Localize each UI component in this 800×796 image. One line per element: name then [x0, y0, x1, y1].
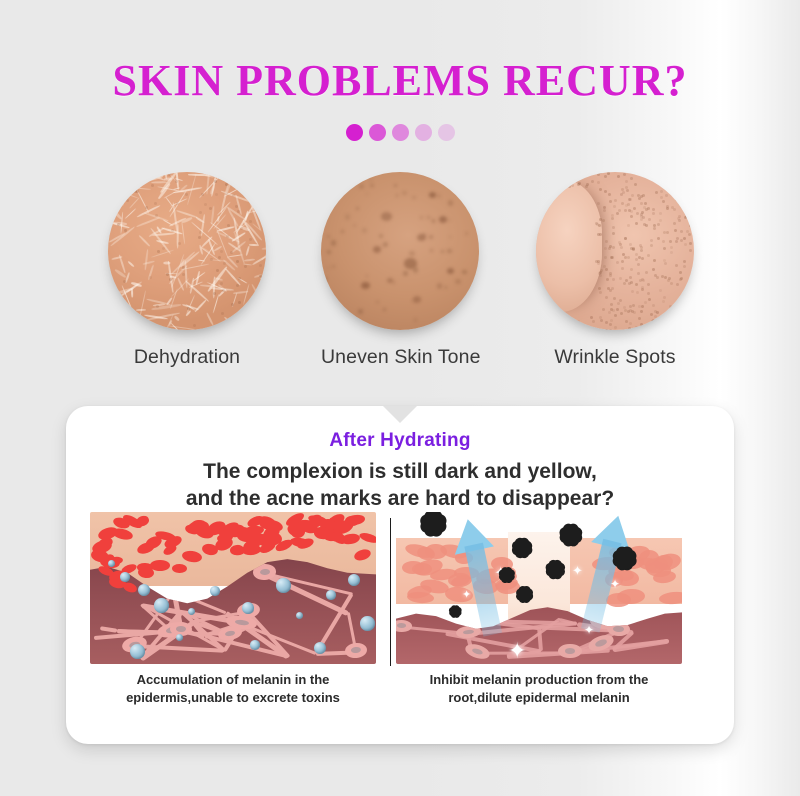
dot-1-icon [346, 124, 363, 141]
skin-pore [659, 289, 662, 292]
skin-pore [612, 246, 615, 249]
skin-pore [198, 236, 201, 239]
skin-pore [139, 320, 142, 323]
skin-pore [597, 260, 600, 263]
sparkle-icon: ✦ [572, 564, 583, 577]
pigment-freckle [403, 271, 408, 276]
skin-pore [232, 194, 235, 197]
problem-item-dehydration: Dehydration [108, 172, 266, 369]
skin-pore [669, 190, 672, 193]
melanin-particle [564, 528, 577, 541]
skin-pore [635, 326, 638, 329]
skin-pore [598, 287, 601, 290]
skin-pore [540, 174, 543, 177]
pigment-freckle [437, 194, 441, 198]
skin-pore [591, 180, 594, 183]
sparkle-icon: ✦ [462, 590, 471, 601]
melanin-particle [550, 564, 561, 575]
skin-pore [640, 218, 643, 221]
skin-pore [537, 317, 540, 320]
skin-pore [652, 212, 655, 215]
skin-pore [616, 212, 619, 215]
skin-flake [261, 246, 266, 250]
skin-pore [692, 295, 694, 298]
skin-flake [119, 254, 126, 273]
pigment-spot [429, 192, 436, 198]
pigment-freckle [393, 281, 395, 283]
hydration-droplet [108, 560, 115, 567]
skin-pore [627, 203, 630, 206]
skin-pore [657, 237, 660, 240]
pigment-freckle [331, 240, 337, 246]
skin-pore [682, 172, 685, 175]
skin-pore [599, 291, 602, 294]
pigment-freckle [456, 191, 458, 193]
pigment-freckle [370, 184, 374, 188]
skin-pore [618, 209, 621, 212]
panel-caption-right-line1: Inhibit melanin production from the [396, 671, 682, 689]
skin-pore [605, 329, 608, 330]
skin-pore [633, 172, 636, 174]
skin-pore [687, 214, 690, 217]
melanin-particle [502, 570, 511, 579]
enlarged-pores-nose-photo [536, 172, 694, 330]
skin-pore [604, 256, 607, 259]
card-headline-line1: The complexion is still dark and yellow, [66, 458, 734, 485]
skin-pore [221, 312, 224, 315]
skin-pore [547, 329, 550, 330]
skin-pore [648, 298, 651, 301]
skin-flake [238, 172, 240, 191]
pigment-freckle [420, 216, 423, 219]
skin-pore [597, 202, 600, 205]
skin-pore [214, 180, 217, 183]
skin-flake [194, 299, 206, 311]
skin-pore [551, 323, 554, 326]
skin-pore [259, 275, 262, 278]
skin-pore [652, 208, 655, 211]
skin-pore [681, 298, 684, 301]
skin-pore [624, 209, 627, 212]
skin-pore [229, 177, 232, 180]
card-notch-icon [383, 406, 417, 423]
skin-pore [650, 239, 653, 242]
skin-pore [685, 323, 688, 326]
skin-pore [628, 282, 631, 285]
skin-flake [124, 300, 126, 320]
skin-pore [245, 323, 248, 326]
pigment-freckle [327, 235, 330, 238]
hydration-droplet [188, 608, 195, 615]
pigment-spot [387, 278, 393, 283]
skin-pore [640, 323, 643, 326]
skin-pore [678, 219, 681, 222]
dot-5-icon [438, 124, 455, 141]
skin-pore [620, 246, 623, 249]
skin-pore [635, 283, 638, 286]
hydration-droplet [210, 586, 220, 596]
skin-pore [185, 193, 188, 196]
skin-pore [565, 320, 568, 323]
fibroblast-cell [558, 644, 582, 658]
skin-pore [600, 319, 603, 322]
skin-pore [640, 310, 643, 313]
skin-pore [145, 206, 148, 209]
skin-pore [650, 313, 653, 316]
pigment-spot [381, 212, 392, 221]
skin-pore [642, 194, 645, 197]
hydration-droplet [326, 590, 336, 600]
skin-pore [624, 256, 627, 259]
hydration-droplet [120, 572, 130, 582]
fibroblast-cell [463, 641, 491, 661]
skin-pore [109, 204, 112, 207]
pigment-freckle [412, 196, 416, 200]
skin-pore [644, 301, 647, 304]
skin-pore [557, 329, 560, 330]
skin-pore [682, 312, 685, 315]
skin-pore [669, 240, 672, 243]
skin-pore [662, 200, 665, 203]
skin-pore [675, 303, 678, 306]
skin-pore [636, 329, 639, 330]
skin-pore [600, 269, 603, 272]
skin-pore [641, 211, 644, 214]
epidermis-cell [150, 560, 170, 571]
skin-pore [569, 318, 572, 321]
skin-pore [629, 322, 632, 325]
skin-pore [650, 244, 653, 247]
skin-pore [655, 191, 658, 194]
skin-flake [125, 208, 137, 219]
panel-melanin-inhibition: ✦✦✦✦✦✦ Inhibit melanin production from t… [396, 512, 682, 706]
skin-flake [126, 273, 131, 284]
skin-pore [226, 235, 229, 238]
fibroblast-cell [344, 642, 368, 659]
hydration-droplet [314, 642, 326, 654]
skin-pore [680, 239, 683, 242]
pigment-freckle [462, 270, 466, 274]
card-eyebrow: After Hydrating [66, 430, 734, 452]
skin-pore [668, 277, 671, 280]
skin-pore [608, 311, 611, 314]
skin-pore [641, 278, 644, 281]
progress-dots [0, 124, 800, 141]
pigment-freckle [448, 200, 453, 205]
skin-pore [627, 256, 630, 259]
skin-pore [641, 305, 644, 308]
skin-pore [620, 193, 623, 196]
skin-pore [608, 193, 611, 196]
skin-pore [644, 202, 647, 205]
pigment-freckle [465, 321, 469, 325]
skin-pore [670, 246, 673, 249]
skin-pore [612, 232, 615, 235]
skin-pore [670, 251, 673, 254]
skin-pore [556, 172, 559, 175]
pigment-freckle [332, 265, 335, 268]
skin-pore [612, 278, 615, 281]
skin-pore [621, 267, 624, 270]
skin-pore [652, 268, 655, 271]
sparkle-icon: ✦ [610, 578, 620, 590]
skin-pore [652, 319, 655, 322]
skin-pore [599, 188, 602, 191]
hydration-droplet [242, 602, 254, 614]
pigment-freckle [353, 224, 356, 227]
skin-pore [590, 316, 593, 319]
pigment-freckle [412, 300, 414, 302]
collagen-fiber [101, 626, 118, 632]
pigment-freckle [413, 267, 419, 273]
melanin-particle [426, 516, 441, 531]
skin-pore [216, 269, 219, 272]
skin-pore [621, 260, 624, 263]
skin-pore [659, 219, 662, 222]
info-card: After Hydrating The complexion is still … [66, 406, 734, 744]
skin-flake [258, 175, 266, 181]
skin-pore [645, 327, 648, 330]
skin-pore [578, 182, 581, 185]
skin-pore [662, 300, 665, 303]
skin-flake [116, 328, 123, 330]
skin-pore [676, 283, 679, 286]
skin-pore [557, 314, 560, 317]
skin-pore [648, 218, 651, 221]
skin-pore [639, 244, 642, 247]
skin-pore [605, 296, 608, 299]
skin-pore [656, 311, 659, 314]
skin-pore [667, 279, 670, 282]
skin-pore [612, 226, 615, 229]
pigment-freckle [341, 230, 344, 233]
skin-pore [536, 186, 538, 189]
skin-pore [602, 219, 605, 222]
skin-pore [636, 212, 639, 215]
skin-pore [599, 316, 602, 319]
skin-pore [614, 199, 617, 202]
skin-pore [611, 217, 614, 220]
skin-pore [685, 202, 688, 205]
pigment-freckle [327, 267, 329, 269]
skin-flake [125, 324, 150, 330]
skin-pore [609, 323, 612, 326]
skin-flake [129, 197, 140, 209]
skin-pore [238, 301, 241, 304]
skin-pore [154, 202, 157, 205]
panel-caption-left-line1: Accumulation of melanin in the [90, 671, 376, 689]
skin-pore [542, 316, 545, 319]
pigment-freckle [465, 232, 467, 234]
skin-pore [629, 305, 632, 308]
skin-pore [610, 319, 613, 322]
skin-pore [679, 327, 682, 330]
pigmented-skin-photo [321, 172, 479, 330]
skin-pore [640, 202, 643, 205]
skin-pore [563, 185, 566, 188]
skin-pore [683, 265, 686, 268]
pigment-freckle [366, 193, 368, 195]
skin-pore [603, 206, 606, 209]
skin-pore [213, 292, 216, 295]
skin-flake [255, 312, 266, 321]
skin-pore [259, 264, 262, 267]
pigment-freckle [432, 219, 435, 222]
pigment-freckle [356, 207, 359, 210]
sparkle-icon: ✦ [584, 624, 594, 636]
hydration-droplet [360, 616, 375, 631]
skin-pore [623, 282, 626, 285]
skin-pore [683, 237, 686, 240]
skin-pore [690, 198, 693, 201]
pigment-freckle [376, 301, 378, 303]
pigment-freckle [454, 321, 457, 324]
skin-flake [249, 320, 266, 328]
pigment-spot [413, 296, 421, 303]
skin-pore [636, 291, 639, 294]
pigment-freckle [437, 283, 443, 289]
skin-flake [224, 316, 233, 325]
hydration-droplet [130, 644, 145, 659]
skin-pore [640, 249, 643, 252]
skin-pore [157, 250, 160, 253]
skin-pore [614, 326, 617, 329]
pigment-spot [439, 216, 447, 223]
skin-pore [545, 184, 548, 187]
skin-pore [227, 224, 230, 227]
skin-pore [625, 180, 628, 183]
skin-flake [242, 284, 249, 306]
skin-pore [630, 210, 633, 213]
skin-pore [550, 318, 553, 321]
skin-pore [608, 247, 611, 250]
skin-pore [249, 238, 252, 241]
skin-flake [127, 261, 134, 268]
skin-pore [630, 268, 633, 271]
page-title: SKIN PROBLEMS RECUR? [0, 55, 800, 106]
skin-pore [665, 194, 668, 197]
pigment-freckle [455, 279, 460, 284]
pigment-freckle [402, 191, 407, 196]
skin-pore [647, 254, 650, 257]
skin-pore [632, 304, 635, 307]
skin-pore [187, 307, 190, 310]
skin-pore [220, 250, 223, 253]
dot-4-icon [415, 124, 432, 141]
skin-pore [613, 297, 616, 300]
skin-flake [219, 172, 223, 177]
skin-pore [567, 173, 570, 176]
pigment-freckle [448, 219, 451, 222]
pigment-spot [373, 246, 381, 253]
melanin-particle [618, 552, 632, 566]
skin-pore [645, 224, 648, 227]
skin-pore [669, 310, 672, 313]
fibroblast-cell [396, 620, 412, 632]
skin-pore [646, 172, 649, 174]
skin-pore [592, 320, 595, 323]
skin-pore [679, 271, 682, 274]
pigment-freckle [345, 214, 351, 220]
skin-pore [633, 207, 636, 210]
dot-2-icon [369, 124, 386, 141]
card-headline: The complexion is still dark and yellow,… [66, 458, 734, 513]
skin-pore [589, 328, 592, 330]
skin-pore [674, 229, 677, 232]
skin-flake [174, 315, 180, 321]
skin-pore [155, 214, 158, 217]
skin-flake [109, 226, 135, 247]
skin-pore [641, 288, 644, 291]
hydration-droplet [138, 584, 150, 596]
problem-circles-row: Dehydration Uneven Skin Tone Wrinkle Spo… [0, 172, 800, 382]
skin-pore [660, 328, 663, 330]
skin-pore [236, 260, 239, 263]
skin-pore [619, 277, 622, 280]
skin-pore [647, 283, 650, 286]
skin-pore [680, 277, 683, 280]
skin-pore [616, 261, 619, 264]
skin-flake [243, 258, 254, 261]
pigment-spot [447, 268, 454, 274]
pigment-freckle [358, 309, 363, 314]
skin-pore [634, 183, 637, 186]
skin-pore [623, 173, 626, 176]
card-headline-line2: and the acne marks are hard to disappear… [66, 485, 734, 512]
skin-pore [561, 174, 564, 177]
skin-pore [641, 257, 644, 260]
skin-pore [169, 278, 172, 281]
problem-label-dehydration: Dehydration [108, 346, 266, 369]
skin-pore [599, 172, 602, 174]
panel-caption-left: Accumulation of melanin in the epidermis… [90, 671, 376, 706]
skin-pore [678, 313, 681, 316]
skin-pore [663, 259, 666, 262]
skin-pore [609, 272, 612, 275]
skin-flake [246, 246, 250, 256]
skin-pore [610, 303, 613, 306]
skin-pore [577, 320, 580, 323]
skin-pore [666, 205, 669, 208]
pigment-freckle [330, 183, 335, 188]
skin-pore [638, 317, 641, 320]
skin-flake [257, 296, 259, 310]
skin-pore [637, 272, 640, 275]
sparkle-icon: ✦ [508, 640, 526, 662]
pigment-freckle [383, 308, 386, 311]
skin-flake [188, 174, 214, 176]
skin-pore [686, 230, 689, 233]
skin-pore [674, 313, 677, 316]
panel-caption-left-line2: epidermis,unable to excrete toxins [90, 689, 376, 707]
pigment-freckle [441, 250, 443, 252]
skin-pore [604, 247, 607, 250]
skin-flake [122, 188, 125, 206]
skin-pore [610, 256, 613, 259]
skin-pore [611, 287, 614, 290]
pigment-freckle [370, 179, 372, 181]
skin-pore [652, 304, 655, 307]
skin-pore [596, 223, 599, 226]
skin-pore [684, 216, 687, 219]
nose-shape [536, 180, 602, 312]
skin-pore [657, 223, 660, 226]
skin-pore [178, 242, 181, 245]
skin-pore [237, 210, 240, 213]
skin-pore [630, 215, 633, 218]
skin-pore [616, 308, 619, 311]
poster-canvas: SKIN PROBLEMS RECUR? Dehydration Uneven … [0, 0, 800, 796]
